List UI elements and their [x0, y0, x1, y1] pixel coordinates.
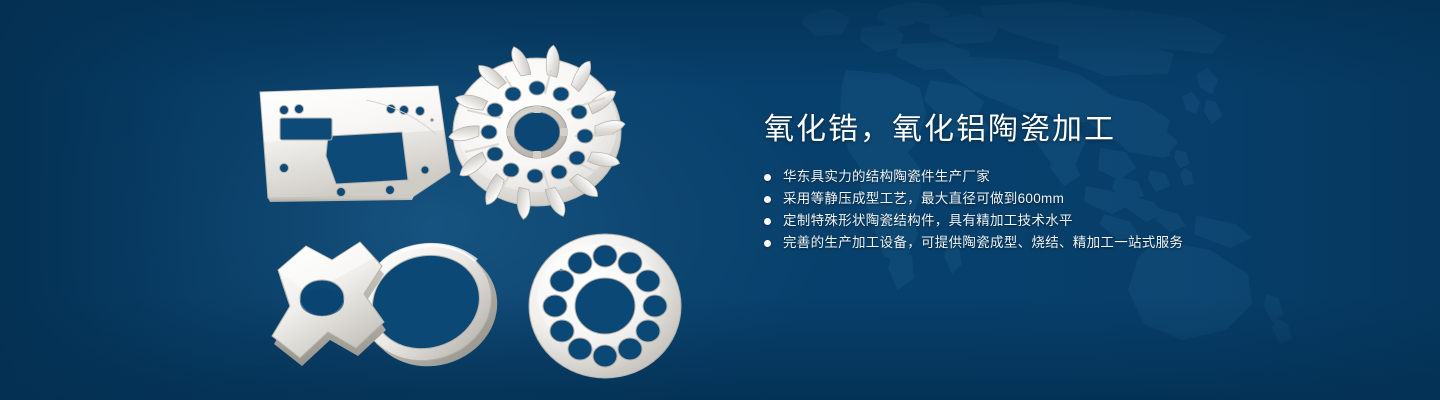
list-item: 定制特殊形状陶瓷结构件，具有精加工技术水平: [764, 210, 1364, 232]
list-item: 完善的生产加工设备，可提供陶瓷成型、烧结、精加工一站式服务: [764, 232, 1364, 254]
feature-text: 完善的生产加工设备，可提供陶瓷成型、烧结、精加工一站式服务: [783, 232, 1183, 254]
bullet-dot-icon: [764, 196, 771, 203]
list-item: 华东具实力的结构陶瓷件生产厂家: [764, 166, 1364, 188]
list-item: 采用等静压成型工艺，最大直径可做到600mm: [764, 188, 1364, 210]
feature-text: 定制特殊形状陶瓷结构件，具有精加工技术水平: [783, 210, 1073, 232]
banner-copy: 氧化锆，氧化铝陶瓷加工 华东具实力的结构陶瓷件生产厂家 采用等静压成型工艺，最大…: [764, 110, 1364, 254]
headline: 氧化锆，氧化铝陶瓷加工: [764, 110, 1364, 150]
ceramic-impeller-disc: [442, 46, 632, 226]
product-image-group: [230, 40, 730, 380]
bullet-dot-icon: [764, 218, 771, 225]
bullet-dot-icon: [764, 174, 771, 181]
ceramic-cross-plate: [248, 236, 418, 386]
ceramic-machined-plate: [254, 84, 454, 204]
feature-text: 华东具实力的结构陶瓷件生产厂家: [783, 166, 990, 188]
ceramic-perforated-ring: [520, 228, 690, 388]
feature-text: 采用等静压成型工艺，最大直径可做到600mm: [783, 188, 1064, 210]
bullet-dot-icon: [764, 240, 771, 247]
promo-banner: 氧化锆，氧化铝陶瓷加工 华东具实力的结构陶瓷件生产厂家 采用等静压成型工艺，最大…: [0, 0, 1440, 400]
feature-list: 华东具实力的结构陶瓷件生产厂家 采用等静压成型工艺，最大直径可做到600mm 定…: [764, 166, 1364, 254]
